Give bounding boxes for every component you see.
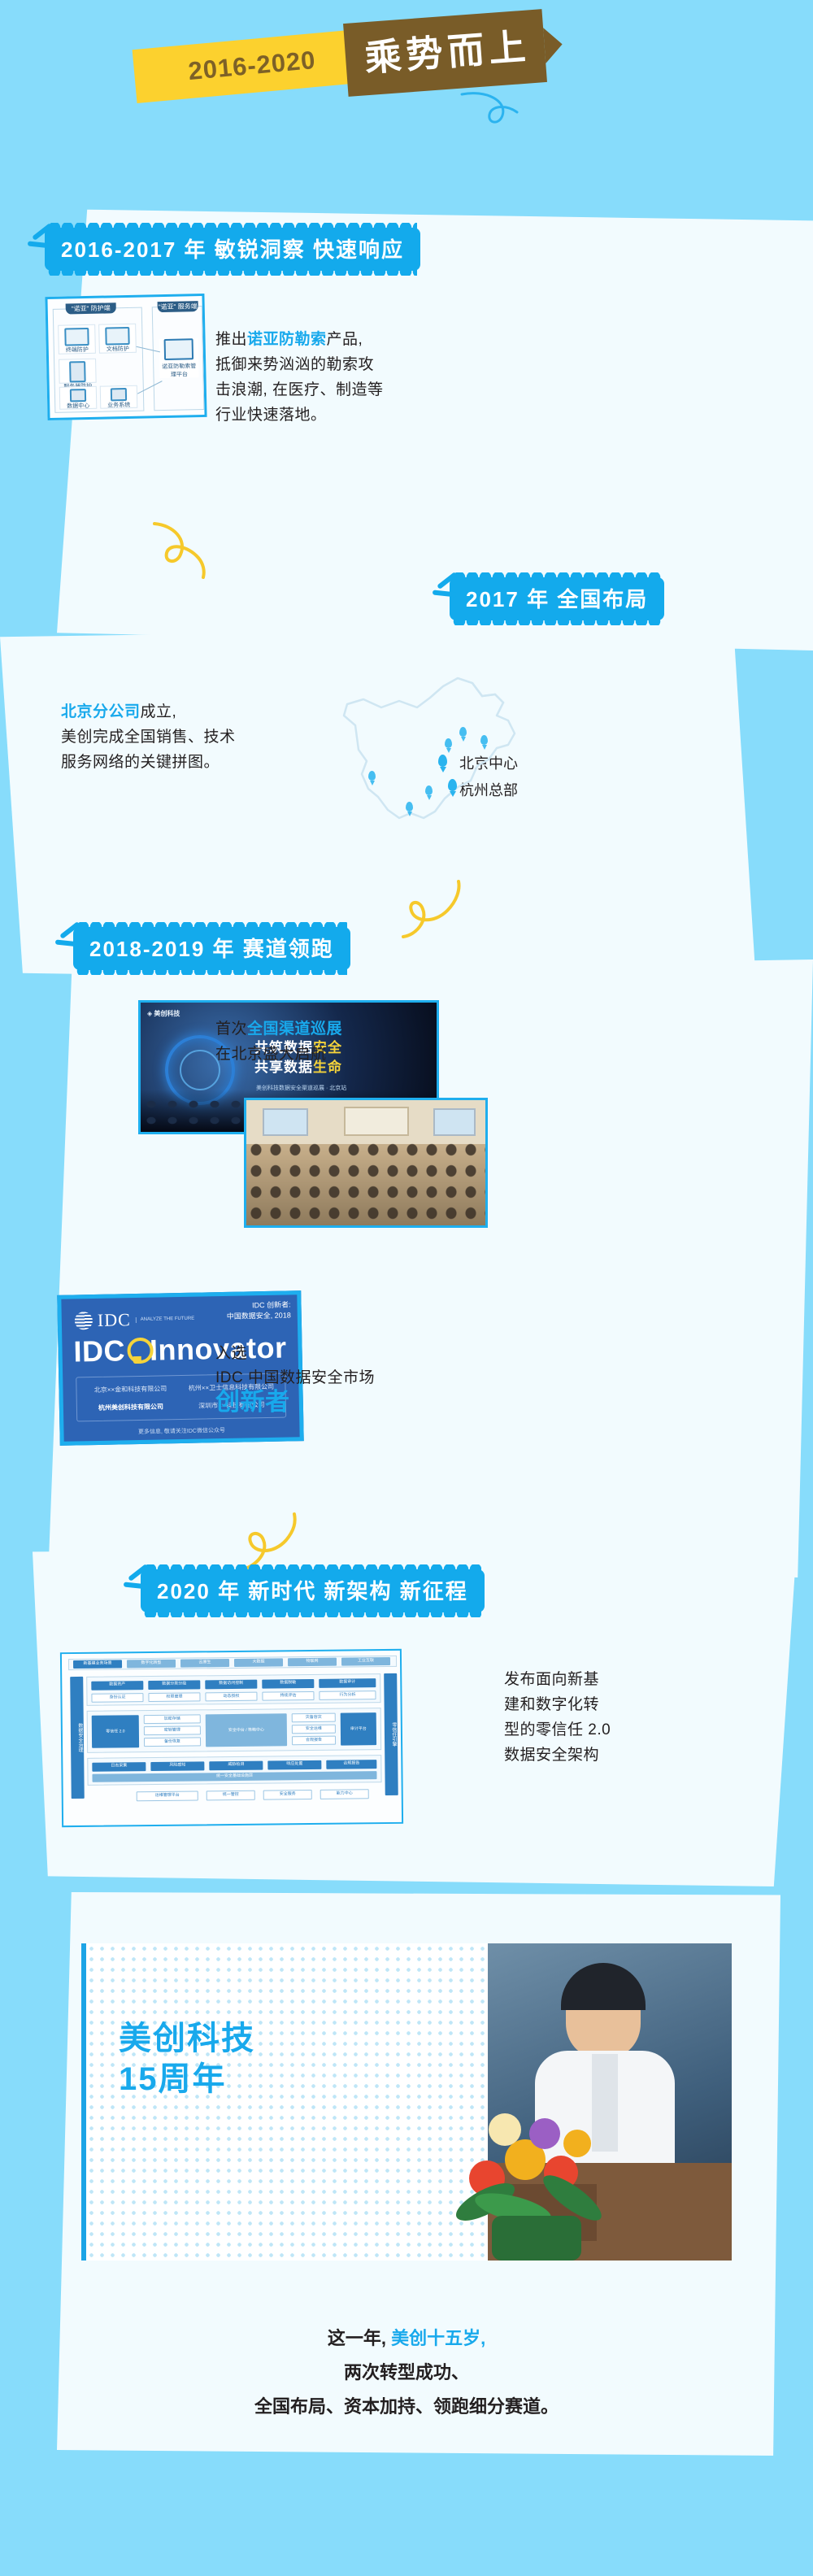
tick-icon-s1 xyxy=(26,223,54,250)
map-pin-beijing xyxy=(438,755,447,767)
s1-line-3: 击浪潮, 在医疗、制造等 xyxy=(215,381,384,398)
section-heading-s2-label: 2017 年 全国布局 xyxy=(466,587,648,611)
map-pin-south xyxy=(425,785,433,795)
s1-line-2: 抵御来势汹汹的勒索攻 xyxy=(215,356,374,373)
year-range-banner: 2016-2020 xyxy=(133,28,372,103)
roadshow-audience-photo xyxy=(244,1098,488,1228)
idc-logo-text: IDC xyxy=(98,1309,131,1331)
section-heading-s2: 2017 年 全国布局 xyxy=(450,577,664,620)
award-caption-line-1: 入选 xyxy=(215,1345,247,1362)
section-heading-s4-label: 2020 年 新时代 新架构 新征程 xyxy=(157,1579,468,1603)
china-map-figure xyxy=(321,651,565,854)
s4-line-2: 建和数字化转 xyxy=(504,1696,599,1713)
closing-line-3: 全国布局、资本加持、领跑细分赛道。 xyxy=(0,2390,813,2424)
anniversary-title-line-2: 15周年 xyxy=(119,2061,227,2097)
section-paragraph-s2: 北京分公司成立, 美创完成全国销售、技术 服务网络的关键拼图。 xyxy=(61,699,289,775)
tick-icon-s4 xyxy=(122,1564,150,1591)
lightbulb-icon xyxy=(125,1338,150,1366)
china-map-outline xyxy=(321,651,565,854)
idc-badge-subtitle: IDC 创新者: 中国数据安全, 2018 xyxy=(226,1299,291,1322)
s3-line-1: 首次全国渠道巡展 xyxy=(215,1020,342,1038)
infographic-page: 2016-2020 乘势而上 2016-2017 年 敏锐洞察 快速响应 "诺亚… xyxy=(0,0,813,2576)
award-caption-big: 创新者 xyxy=(215,1389,290,1416)
section-heading-s4: 2020 年 新时代 新架构 新征程 xyxy=(141,1569,485,1612)
award-caption: 入选 IDC 中国数据安全市场 创新者 xyxy=(215,1342,402,1418)
closing-line-1-highlight: 美创十五岁, xyxy=(391,2328,485,2348)
map-pin-northeast xyxy=(480,735,488,745)
s3-line-2: 在北京盛大启航 xyxy=(215,1046,327,1063)
closing-statement: 这一年, 美创十五岁, 两次转型成功、 全国布局、资本加持、领跑细分赛道。 xyxy=(0,2321,813,2424)
noah-diagram-figure: "诺亚" 防护端 "诺亚" 服务端 终端防护 文档防护 服务器防护 数据中心 业… xyxy=(45,294,207,420)
closing-line-2: 两次转型成功、 xyxy=(0,2356,813,2390)
section-paragraph-s3: 首次全国渠道巡展 在北京盛大启航 xyxy=(215,1016,402,1067)
flower-bouquet xyxy=(453,2086,628,2261)
map-pin-hangzhou xyxy=(448,779,457,791)
swirl-doodle-header xyxy=(455,88,528,137)
map-pin-southwest xyxy=(406,802,413,812)
s4-line-4: 数据安全架构 xyxy=(504,1747,599,1764)
section-heading-s3-label: 2018-2019 年 赛道领跑 xyxy=(89,937,334,961)
s1-line-4: 行业快速落地。 xyxy=(215,407,327,424)
anniversary-title: 美创科技 15周年 xyxy=(119,2018,255,2100)
idc-company-3: 杭州美创科技有限公司 xyxy=(98,1401,163,1415)
section-heading-s1: 2016-2017 年 敏锐洞察 快速响应 xyxy=(45,228,420,271)
closing-line-1-prefix: 这一年, xyxy=(328,2328,386,2348)
award-caption-line-2: IDC 中国数据安全市场 xyxy=(215,1369,375,1386)
idc-card-footer: 更多信息, 敬请关注IDC微信公众号 xyxy=(63,1425,299,1438)
anniversary-title-line-1: 美创科技 xyxy=(119,2021,255,2056)
section-paragraph-s1: 推出诺亚防勒索产品, 抵御来势汹汹的勒索攻 击浪潮, 在医疗、制造等 行业快速落… xyxy=(215,327,394,428)
s2-line-1: 北京分公司成立, xyxy=(61,703,176,720)
s1-line-1: 推出诺亚防勒索产品, xyxy=(215,331,363,348)
main-title-banner: 乘势而上 xyxy=(343,9,547,97)
map-pin-central xyxy=(445,738,452,748)
swirl-doodle-s1-s2 xyxy=(146,520,220,581)
section-heading-s3: 2018-2019 年 赛道领跑 xyxy=(73,927,350,970)
tick-icon-s3 xyxy=(54,921,81,949)
swirl-doodle-s2-s3 xyxy=(398,878,476,943)
map-pin-west xyxy=(368,771,376,781)
zero-trust-architecture-figure: 新基建业务场景 数字化转型 云原生 大数据 物联网 工业互联 数据安全治理 零信… xyxy=(60,1649,403,1827)
s4-line-1: 发布面向新基 xyxy=(504,1671,599,1688)
s2-line-2: 美创完成全国销售、技术 xyxy=(61,729,236,746)
idc-logo-subtext: ANALYZE THE FUTURE xyxy=(136,1316,195,1322)
year-range-label: 2016-2020 xyxy=(133,28,372,103)
idc-logo: IDC ANALYZE THE FUTURE xyxy=(75,1308,195,1332)
s2-line-3: 服务网络的关键拼图。 xyxy=(61,754,220,771)
section-paragraph-s4: 发布面向新基 建和数字化转 型的零信任 2.0 数据安全架构 xyxy=(504,1667,683,1768)
anniversary-photo-block: 美创科技 15周年 xyxy=(81,1943,732,2261)
main-title-label: 乘势而上 xyxy=(343,9,547,97)
map-pin-north xyxy=(459,727,467,737)
tick-icon-s2 xyxy=(431,572,459,599)
idc-globe-icon xyxy=(75,1312,93,1329)
section-heading-s1-label: 2016-2017 年 敏锐洞察 快速响应 xyxy=(61,237,404,262)
closing-line-1: 这一年, 美创十五岁, xyxy=(0,2321,813,2356)
idc-company-1: 北京××金和科技有限公司 xyxy=(94,1382,167,1396)
s4-line-3: 型的零信任 2.0 xyxy=(504,1721,611,1738)
